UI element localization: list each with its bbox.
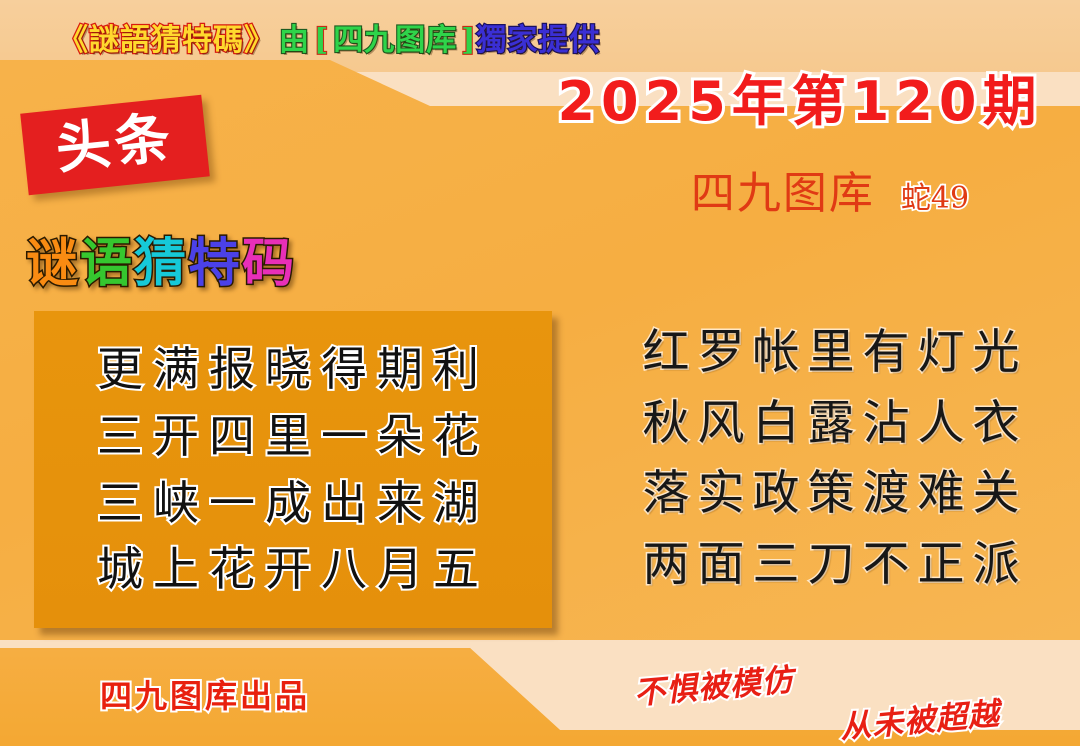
poem-line: 落实政策渡难关	[600, 459, 1070, 530]
header-title-main: 謎語猜特碼	[89, 23, 244, 58]
riddle-line: 更满报晓得期利	[48, 336, 538, 403]
section-title-char-4: 特	[188, 234, 242, 294]
section-title-char-2: 语	[80, 234, 134, 294]
header-credit-line: 《謎語猜特碼》由[四九图库]獨家提供	[58, 26, 600, 56]
header-title-bracket-close: 》	[244, 23, 275, 58]
footer-produced-by: 四九图库出品	[100, 680, 310, 712]
issue-period-title: 2025年第120期	[540, 74, 1060, 131]
header-source-bracket-open: [	[314, 23, 329, 58]
section-title-char-3: 猜	[134, 234, 188, 294]
brand-row: 四九图库 蛇49	[600, 172, 1060, 216]
header-exclusive-text: 獨家提供	[476, 23, 600, 58]
poem-line: 红罗帐里有灯光	[600, 318, 1070, 389]
header-source-name: 四九图库	[333, 23, 457, 58]
riddle-line: 三峡一成出来湖	[48, 470, 538, 537]
poem-line: 秋风白露沾人衣	[600, 389, 1070, 460]
right-poem: 红罗帐里有灯光 秋风白露沾人衣 落实政策渡难关 两面三刀不正派	[600, 318, 1070, 600]
riddle-line: 城上花开八月五	[48, 536, 538, 603]
header-title-bracket-open: 《	[58, 23, 89, 58]
header-source-bracket-close: ]	[461, 23, 476, 58]
section-title-char-1: 谜	[26, 234, 80, 294]
section-title-rainbow: 谜语猜特码	[26, 238, 296, 290]
brand-zodiac-label: 蛇49	[901, 184, 969, 214]
section-title-char-5: 码	[242, 234, 296, 294]
headline-badge-label: 头条	[53, 109, 176, 176]
brand-name: 四九图库	[691, 172, 875, 216]
poster-canvas: 《謎語猜特碼》由[四九图库]獨家提供 头条 2025年第120期 四九图库 蛇4…	[0, 0, 1080, 746]
riddle-line: 三开四里一朵花	[48, 403, 538, 470]
poem-line: 两面三刀不正派	[600, 530, 1070, 601]
riddle-box: 更满报晓得期利 三开四里一朵花 三峡一成出来湖 城上花开八月五	[34, 311, 552, 628]
header-by-word: 由	[279, 23, 310, 58]
